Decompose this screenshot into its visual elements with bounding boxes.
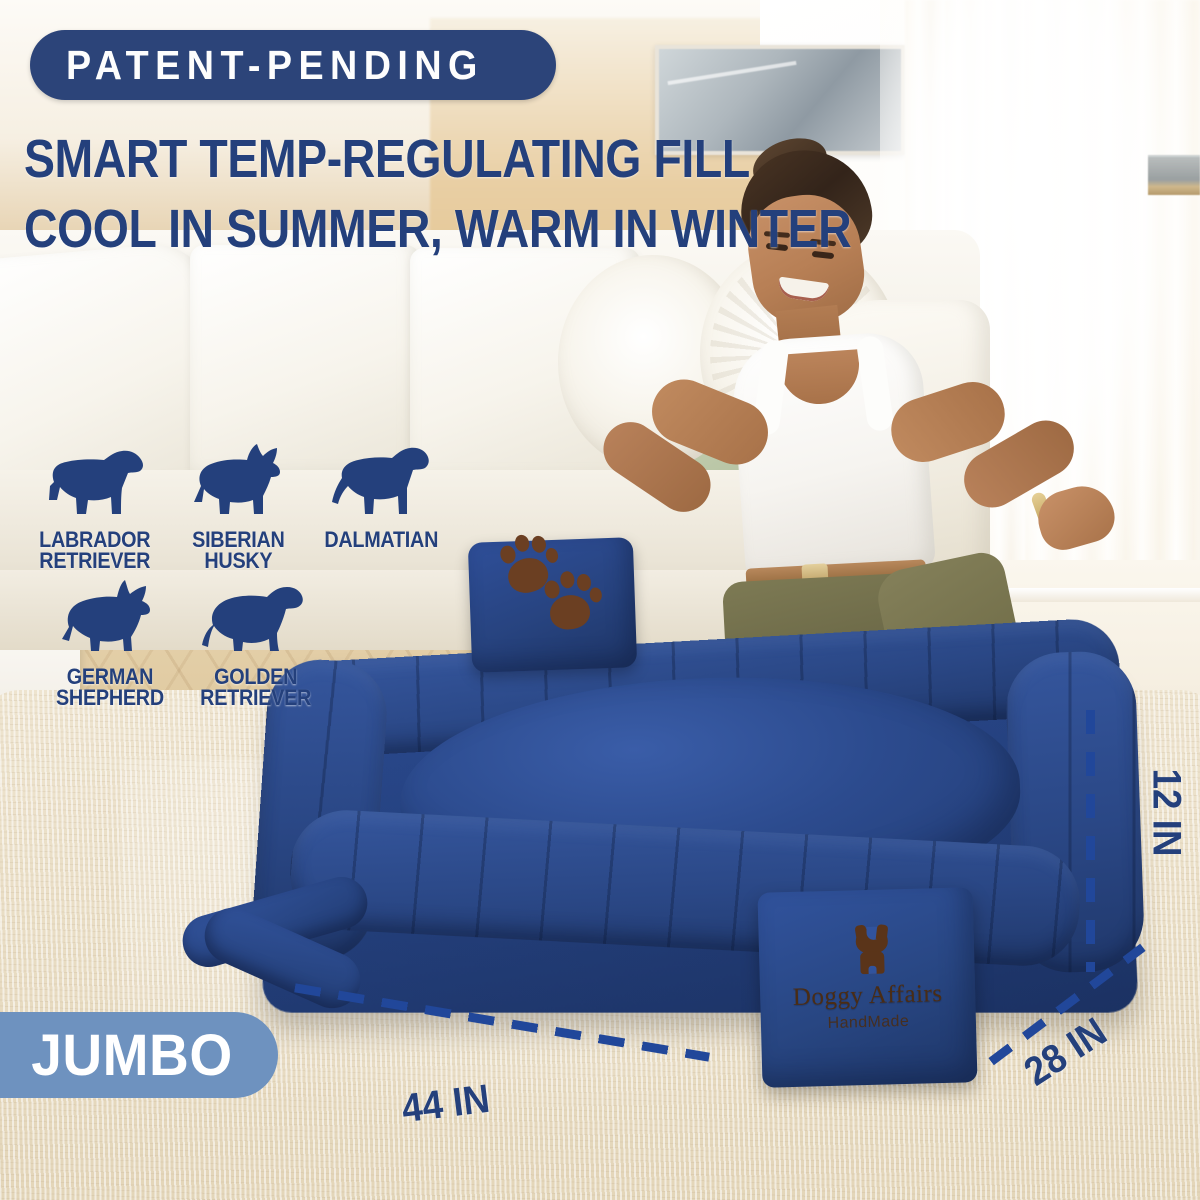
size-badge-label: JUMBO [31, 1022, 232, 1089]
patent-pending-badge: PATENT-PENDING [30, 30, 556, 100]
dog-husky-icon [183, 442, 293, 526]
breed-label-line-1: GOLDEN [201, 666, 312, 687]
breed-item-dalmatian: DALMATIAN [313, 442, 450, 571]
dimension-dash-height [1086, 710, 1095, 972]
breed-label-line-2: SHEPHERD [56, 687, 164, 708]
window-frame [1148, 155, 1200, 195]
patent-pending-label: PATENT-PENDING [66, 42, 484, 89]
breed-row-1: LABRADOR RETRIEVER SIBERIAN HUSKY DA [26, 442, 456, 571]
product-lifestyle-photo: Doggy Affairs HandMade PATENT-PENDING SM… [0, 0, 1200, 1200]
dog-golden-retriever-icon [201, 579, 311, 663]
dog-labrador-icon [40, 442, 150, 526]
breed-label-line-1: LABRADOR [39, 529, 150, 550]
breed-label-line-1: SIBERIAN [192, 529, 284, 550]
breed-row-2: GERMAN SHEPHERD GOLDEN RETRIEVER [40, 579, 456, 708]
brand-pillow: Doggy Affairs HandMade [757, 887, 977, 1088]
breed-label-line-2: RETRIEVER [39, 550, 150, 571]
breed-label-line-1: GERMAN [56, 666, 164, 687]
breed-label-line-2: RETRIEVER [201, 687, 312, 708]
breed-item-golden-retriever: GOLDEN RETRIEVER [186, 579, 326, 708]
headline-line-2: COOL IN SUMMER, WARM IN WINTER [24, 198, 851, 260]
dog-german-shepherd-icon [55, 579, 165, 663]
dog-head-logo-icon [853, 927, 890, 974]
breed-compatibility-list: LABRADOR RETRIEVER SIBERIAN HUSKY DA [26, 442, 456, 708]
brand-name: Doggy Affairs [760, 979, 976, 1013]
breed-label-line-1: DALMATIAN [324, 529, 438, 550]
size-badge: JUMBO [0, 1012, 278, 1098]
breed-item-german-shepherd: GERMAN SHEPHERD [40, 579, 180, 708]
breed-label-line-2: HUSKY [192, 550, 284, 571]
dog-dalmatian-icon [326, 442, 436, 526]
breed-item-siberian-husky: SIBERIAN HUSKY [169, 442, 306, 571]
dimension-label-height: 12 IN [1143, 769, 1188, 857]
brand-tagline: HandMade [761, 1011, 976, 1035]
breed-item-labrador-retriever: LABRADOR RETRIEVER [26, 442, 163, 571]
paw-print-pillow [468, 537, 637, 673]
headline-line-1: SMART TEMP-REGULATING FILL [24, 128, 750, 190]
